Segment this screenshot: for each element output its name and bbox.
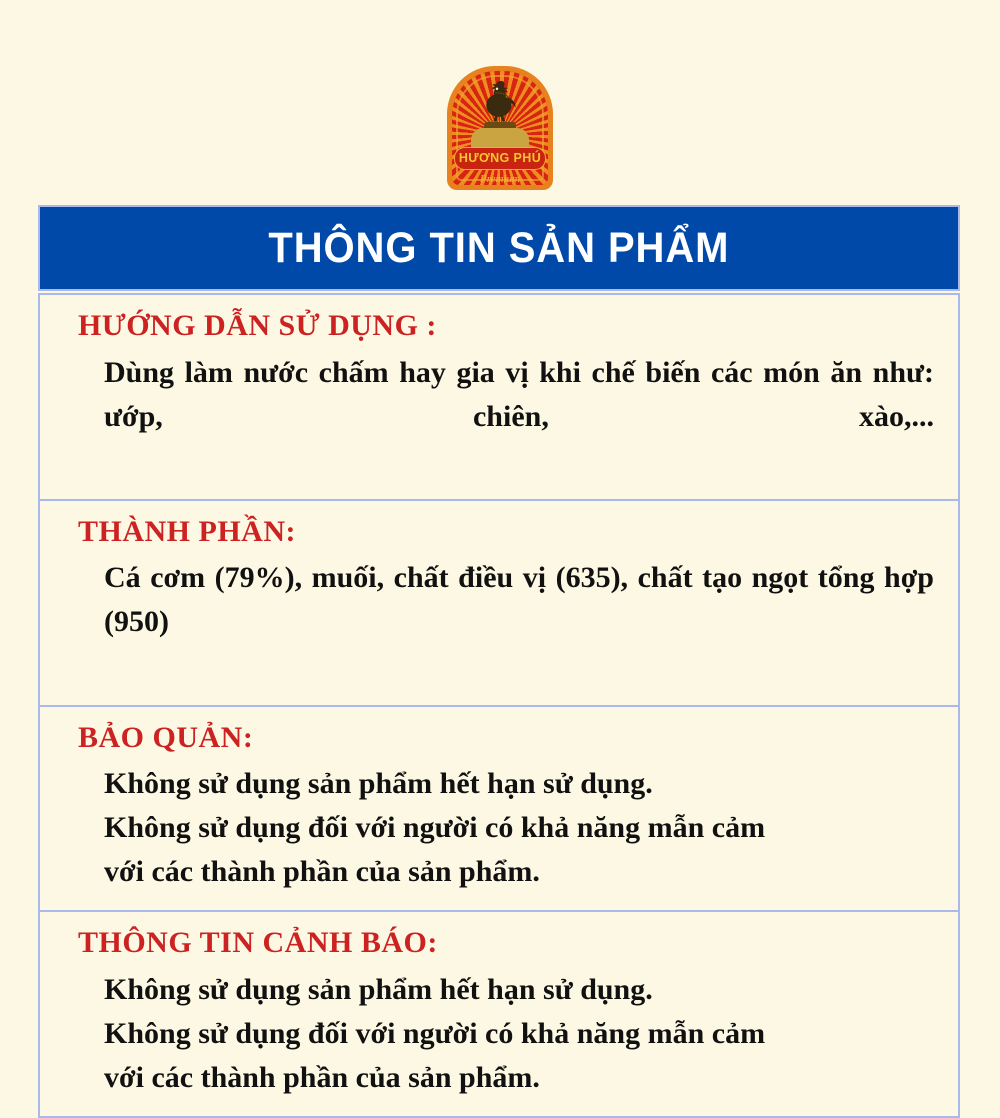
brand-logo: HƯƠNG PHÚ Premium	[0, 66, 1000, 190]
section-line: với các thành phần của sản phẩm.	[104, 850, 934, 894]
info-sections: HƯỚNG DẪN SỬ DỤNG :Dùng làm nước chấm ha…	[38, 293, 960, 1118]
info-section: BẢO QUẢN:Không sử dụng sản phẩm hết hạn …	[38, 707, 960, 913]
product-info-card: HƯƠNG PHÚ Premium THÔNG TIN SẢN PHẨM HƯỚ…	[0, 0, 1000, 1000]
logo-emblem: HƯƠNG PHÚ Premium	[447, 66, 553, 190]
logo-name-plate: HƯƠNG PHÚ	[454, 147, 546, 170]
section-line: Không sử dụng đối với người có khả năng …	[104, 1012, 934, 1056]
section-heading: THÔNG TIN CẢNH BÁO:	[78, 924, 934, 962]
section-heading: HƯỚNG DẪN SỬ DỤNG :	[78, 307, 934, 345]
info-section: THÔNG TIN CẢNH BÁO:Không sử dụng sản phẩ…	[38, 912, 960, 1118]
info-section: THÀNH PHẦN:Cá cơm (79%), muối, chất điều…	[38, 501, 960, 707]
section-line: Không sử dụng sản phẩm hết hạn sử dụng.	[104, 968, 934, 1012]
header-banner: THÔNG TIN SẢN PHẨM	[38, 205, 960, 291]
brand-name: HƯƠNG PHÚ	[459, 152, 541, 165]
section-heading: BẢO QUẢN:	[78, 719, 934, 757]
info-section: HƯỚNG DẪN SỬ DỤNG :Dùng làm nước chấm ha…	[38, 293, 960, 501]
section-body: Dùng làm nước chấm hay gia vị khi chế bi…	[104, 351, 934, 483]
brand-tagline: Premium	[447, 174, 553, 185]
section-paragraph: Dùng làm nước chấm hay gia vị khi chế bi…	[104, 351, 934, 483]
section-heading: THÀNH PHẦN:	[78, 513, 934, 551]
section-body: Cá cơm (79%), muối, chất điều vị (635), …	[104, 556, 934, 688]
section-body: Không sử dụng sản phẩm hết hạn sử dụng.K…	[104, 968, 934, 1100]
section-line: Không sử dụng sản phẩm hết hạn sử dụng.	[104, 762, 934, 806]
page-title: THÔNG TIN SẢN PHẨM	[268, 227, 729, 270]
section-body: Không sử dụng sản phẩm hết hạn sử dụng.K…	[104, 762, 934, 894]
section-paragraph: Cá cơm (79%), muối, chất điều vị (635), …	[104, 556, 934, 688]
section-line: với các thành phần của sản phẩm.	[104, 1056, 934, 1100]
section-line: Không sử dụng đối với người có khả năng …	[104, 806, 934, 850]
